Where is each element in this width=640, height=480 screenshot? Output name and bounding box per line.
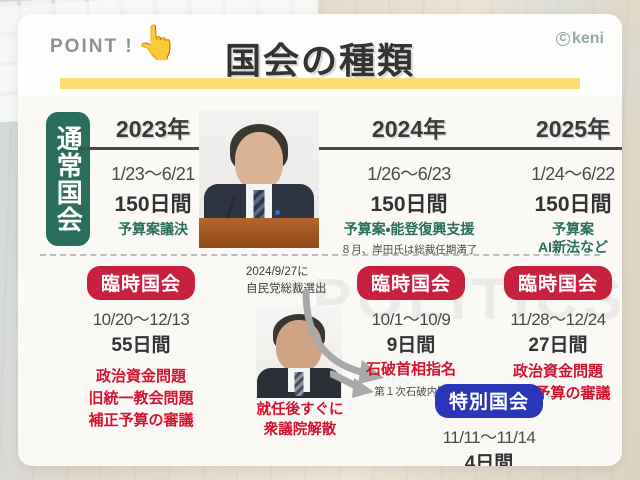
page-title: 国会の種類 bbox=[18, 32, 622, 84]
special-session-block: 特別国会 11/11〜11/14 4日間 首相指名 ⇒第２次石破内閣 bbox=[354, 384, 622, 466]
session-topics-2025: 予算案 AI新法など bbox=[498, 221, 622, 256]
brand-logo: C keni bbox=[556, 30, 604, 48]
session-dates-2025: 1/24〜6/22 bbox=[498, 160, 622, 186]
session-days-2023: 150日間 bbox=[78, 188, 228, 218]
extraordinary-topics-2023: 政治資金問題 旧統一教会問題 補正予算の審議 bbox=[46, 366, 236, 431]
session-dates-2023: 1/23〜6/21 bbox=[78, 160, 228, 186]
ordinary-column-2023: 2023年 1/23〜6/21 150日間 予算案議決 bbox=[78, 110, 228, 239]
special-session-days: 4日間 bbox=[354, 448, 622, 466]
copyright-icon: C bbox=[556, 32, 570, 46]
brand-logo-text: keni bbox=[572, 30, 604, 48]
dissolution-annotation: 就任後すぐに 衆議院解散 bbox=[240, 400, 360, 441]
ordinary-column-2024: 2024年 1/26〜6/23 150日間 予算案・能登復興支援 ８月、岸田氏は… bbox=[314, 110, 504, 257]
special-session-badge: 特別国会 bbox=[435, 384, 543, 418]
extraordinary-days-2025: 27日間 bbox=[470, 330, 622, 357]
extraordinary-session-badge-2025: 臨時国会 bbox=[504, 266, 612, 300]
title-underline bbox=[60, 78, 580, 89]
ordinary-column-2025: 2025年 1/24〜6/22 150日間 予算案 AI新法など bbox=[498, 110, 622, 256]
header: POINT ! 👆 国会の種類 C keni bbox=[18, 14, 622, 96]
year-heading-2024: 2024年 bbox=[314, 110, 504, 144]
extraordinary-days-2024: 9日間 bbox=[336, 330, 486, 357]
extraordinary-block-2023: 臨時国会 10/20〜12/13 55日間 政治資金問題 旧統一教会問題 補正予… bbox=[46, 266, 236, 431]
extraordinary-session-badge-2024: 臨時国会 bbox=[357, 266, 465, 300]
session-days-2025: 150日間 bbox=[498, 188, 622, 218]
extraordinary-days-2023: 55日間 bbox=[46, 330, 236, 357]
session-dates-2024: 1/26〜6/23 bbox=[314, 160, 504, 186]
extraordinary-dates-2023: 10/20〜12/13 bbox=[46, 305, 236, 330]
session-topics-2023: 予算案議決 bbox=[78, 221, 228, 239]
year-heading-2023: 2023年 bbox=[78, 110, 228, 144]
extraordinary-dates-2025: 11/28〜12/24 bbox=[470, 305, 622, 330]
session-days-2024: 150日間 bbox=[314, 188, 504, 218]
special-session-dates: 11/11〜11/14 bbox=[354, 423, 622, 448]
session-topics-2024: 予算案・能登復興支援 bbox=[314, 221, 504, 239]
session-note-2024: ８月、岸田氏は総裁任期満了 bbox=[314, 242, 504, 257]
extraordinary-dates-2024: 10/1〜10/9 bbox=[336, 305, 486, 330]
infographic-card: POLITICS POINT ! 👆 国会の種類 C keni 通常国会 bbox=[18, 14, 622, 466]
year-heading-2025: 2025年 bbox=[498, 110, 622, 144]
extraordinary-session-badge-2023: 臨時国会 bbox=[87, 266, 195, 300]
